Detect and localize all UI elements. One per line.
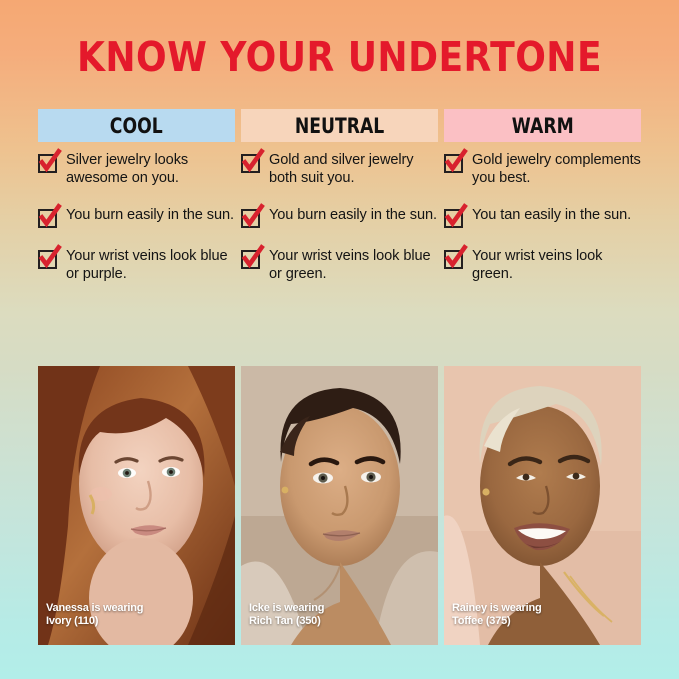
list-item-label: Your wrist veins look green.	[472, 248, 641, 283]
checkmark-icon	[37, 243, 63, 270]
list-item: Silver jewelry looks awesome on you.	[38, 152, 235, 187]
column-header-bar-row: COOL NEUTRAL WARM	[38, 109, 641, 142]
column-header-cool: COOL	[38, 109, 235, 142]
checkbox-icon	[444, 154, 463, 173]
column-header-neutral-label: NEUTRAL	[295, 114, 384, 138]
checklist-columns: Silver jewelry looks awesome on you. You…	[38, 152, 641, 283]
checkmark-icon	[37, 147, 63, 174]
checkmark-icon	[240, 202, 266, 229]
column-header-cool-label: COOL	[110, 114, 163, 138]
photo-caption-cool: Vanessa is wearing Ivory (110)	[46, 602, 143, 627]
column-header-warm: WARM	[444, 109, 641, 142]
model-photo-neutral: Icke is wearing Rich Tan (350)	[241, 366, 438, 645]
model-photo-warm: Rainey is wearing Toffee (375)	[444, 366, 641, 645]
column-header-neutral: NEUTRAL	[241, 109, 438, 142]
checkbox-icon	[241, 154, 260, 173]
photo-caption-cool-line1: Vanessa is wearing	[46, 602, 143, 615]
photo-caption-warm-line2: Toffee (375)	[452, 615, 542, 628]
list-item-label: Gold jewelry complements you best.	[472, 152, 641, 187]
list-item: Gold jewelry complements you best.	[444, 152, 641, 187]
infographic-canvas: KNOW YOUR UNDERTONE COOL NEUTRAL WARM Si…	[0, 0, 679, 679]
model-photo-cool: Vanessa is wearing Ivory (110)	[38, 366, 235, 645]
list-item: You tan easily in the sun.	[444, 207, 641, 228]
checkbox-icon	[38, 250, 57, 269]
list-item-label: Your wrist veins look blue or purple.	[66, 248, 235, 283]
list-item-label: Your wrist veins look blue or green.	[269, 248, 438, 283]
list-item: You burn easily in the sun.	[38, 207, 235, 228]
photo-caption-neutral-line2: Rich Tan (350)	[249, 615, 324, 628]
page-title: KNOW YOUR UNDERTONE	[41, 33, 639, 81]
list-item: You burn easily in the sun.	[241, 207, 438, 228]
column-header-warm-label: WARM	[512, 114, 574, 138]
checkbox-icon	[444, 250, 463, 269]
list-item-label: You burn easily in the sun.	[66, 207, 234, 225]
photo-caption-warm-line1: Rainey is wearing	[452, 602, 542, 615]
checkbox-icon	[241, 209, 260, 228]
list-item: Your wrist veins look green.	[444, 248, 641, 283]
checkmark-icon	[443, 202, 469, 229]
photo-caption-neutral-line1: Icke is wearing	[249, 602, 324, 615]
photo-caption-cool-line2: Ivory (110)	[46, 615, 143, 628]
list-item-label: You burn easily in the sun.	[269, 207, 437, 225]
checkbox-icon	[38, 209, 57, 228]
photo-caption-neutral: Icke is wearing Rich Tan (350)	[249, 602, 324, 627]
checkmark-icon	[240, 147, 266, 174]
list-item-label: Silver jewelry looks awesome on you.	[66, 152, 235, 187]
checkmark-icon	[443, 147, 469, 174]
checkmark-icon	[443, 243, 469, 270]
checklist-column-cool: Silver jewelry looks awesome on you. You…	[38, 152, 235, 283]
list-item-label: You tan easily in the sun.	[472, 207, 631, 225]
checklist-column-neutral: Gold and silver jewelry both suit you. Y…	[241, 152, 438, 283]
checkbox-icon	[444, 209, 463, 228]
model-photo-strip: Vanessa is wearing Ivory (110)	[38, 366, 641, 645]
list-item: Gold and silver jewelry both suit you.	[241, 152, 438, 187]
list-item-label: Gold and silver jewelry both suit you.	[269, 152, 438, 187]
photo-caption-warm: Rainey is wearing Toffee (375)	[452, 602, 542, 627]
checkbox-icon	[241, 250, 260, 269]
checkmark-icon	[240, 243, 266, 270]
checkbox-icon	[38, 154, 57, 173]
list-item: Your wrist veins look blue or green.	[241, 248, 438, 283]
checklist-column-warm: Gold jewelry complements you best. You t…	[444, 152, 641, 283]
checkmark-icon	[37, 202, 63, 229]
list-item: Your wrist veins look blue or purple.	[38, 248, 235, 283]
